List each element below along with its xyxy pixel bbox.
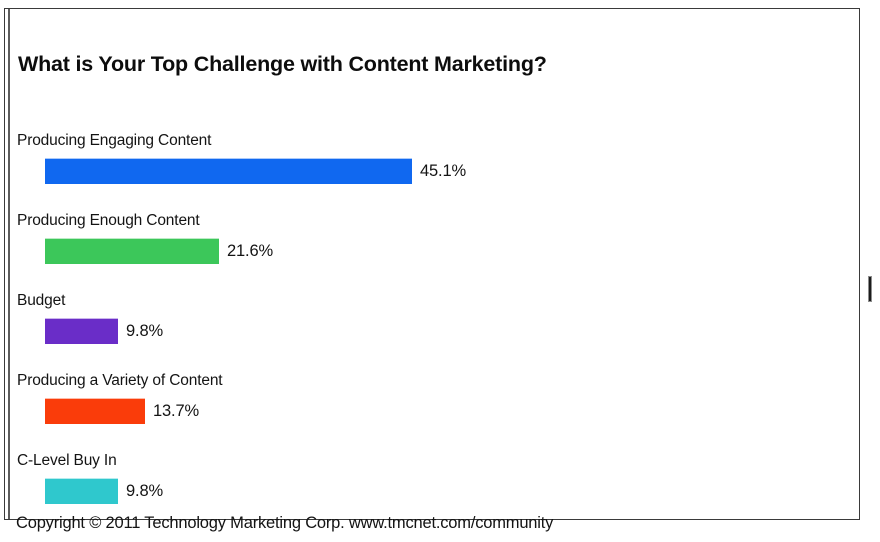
- bar-row: 13.7%: [45, 398, 199, 424]
- bar-row: 9.8%: [45, 318, 163, 344]
- bar-chart-plot: Producing Engaging Content 45.1% Produci…: [0, 132, 856, 532]
- copyright-footer: Copyright © 2011 Technology Marketing Co…: [16, 514, 553, 533]
- bar-category-label: Producing Engaging Content: [17, 132, 211, 150]
- bar-segment: [45, 318, 118, 344]
- bar-group: Producing Engaging Content 45.1%: [0, 132, 856, 212]
- bar-group: Budget 9.8%: [0, 292, 856, 372]
- bar-group: Producing a Variety of Content 13.7%: [0, 372, 856, 452]
- bar-value-label: 45.1%: [420, 162, 466, 181]
- bar-row: 45.1%: [45, 158, 466, 184]
- bar-row: 9.8%: [45, 478, 163, 504]
- bar-category-label: Producing Enough Content: [17, 212, 200, 230]
- bar-row: 21.6%: [45, 238, 273, 264]
- bar-value-label: 21.6%: [227, 242, 273, 261]
- bar-value-label: 9.8%: [126, 322, 163, 341]
- bar-group: Producing Enough Content 21.6%: [0, 212, 856, 292]
- scan-artifact-mark: [868, 276, 872, 302]
- bar-value-label: 9.8%: [126, 482, 163, 501]
- slide-canvas: What is Your Top Challenge with Content …: [0, 0, 880, 542]
- bar-value-label: 13.7%: [153, 402, 199, 421]
- bar-segment: [45, 158, 412, 184]
- bar-category-label: C-Level Buy In: [17, 452, 117, 470]
- bar-segment: [45, 398, 145, 424]
- bar-segment: [45, 478, 118, 504]
- bar-category-label: Budget: [17, 292, 65, 310]
- bar-category-label: Producing a Variety of Content: [17, 372, 222, 390]
- chart-title: What is Your Top Challenge with Content …: [18, 52, 547, 77]
- bar-segment: [45, 238, 219, 264]
